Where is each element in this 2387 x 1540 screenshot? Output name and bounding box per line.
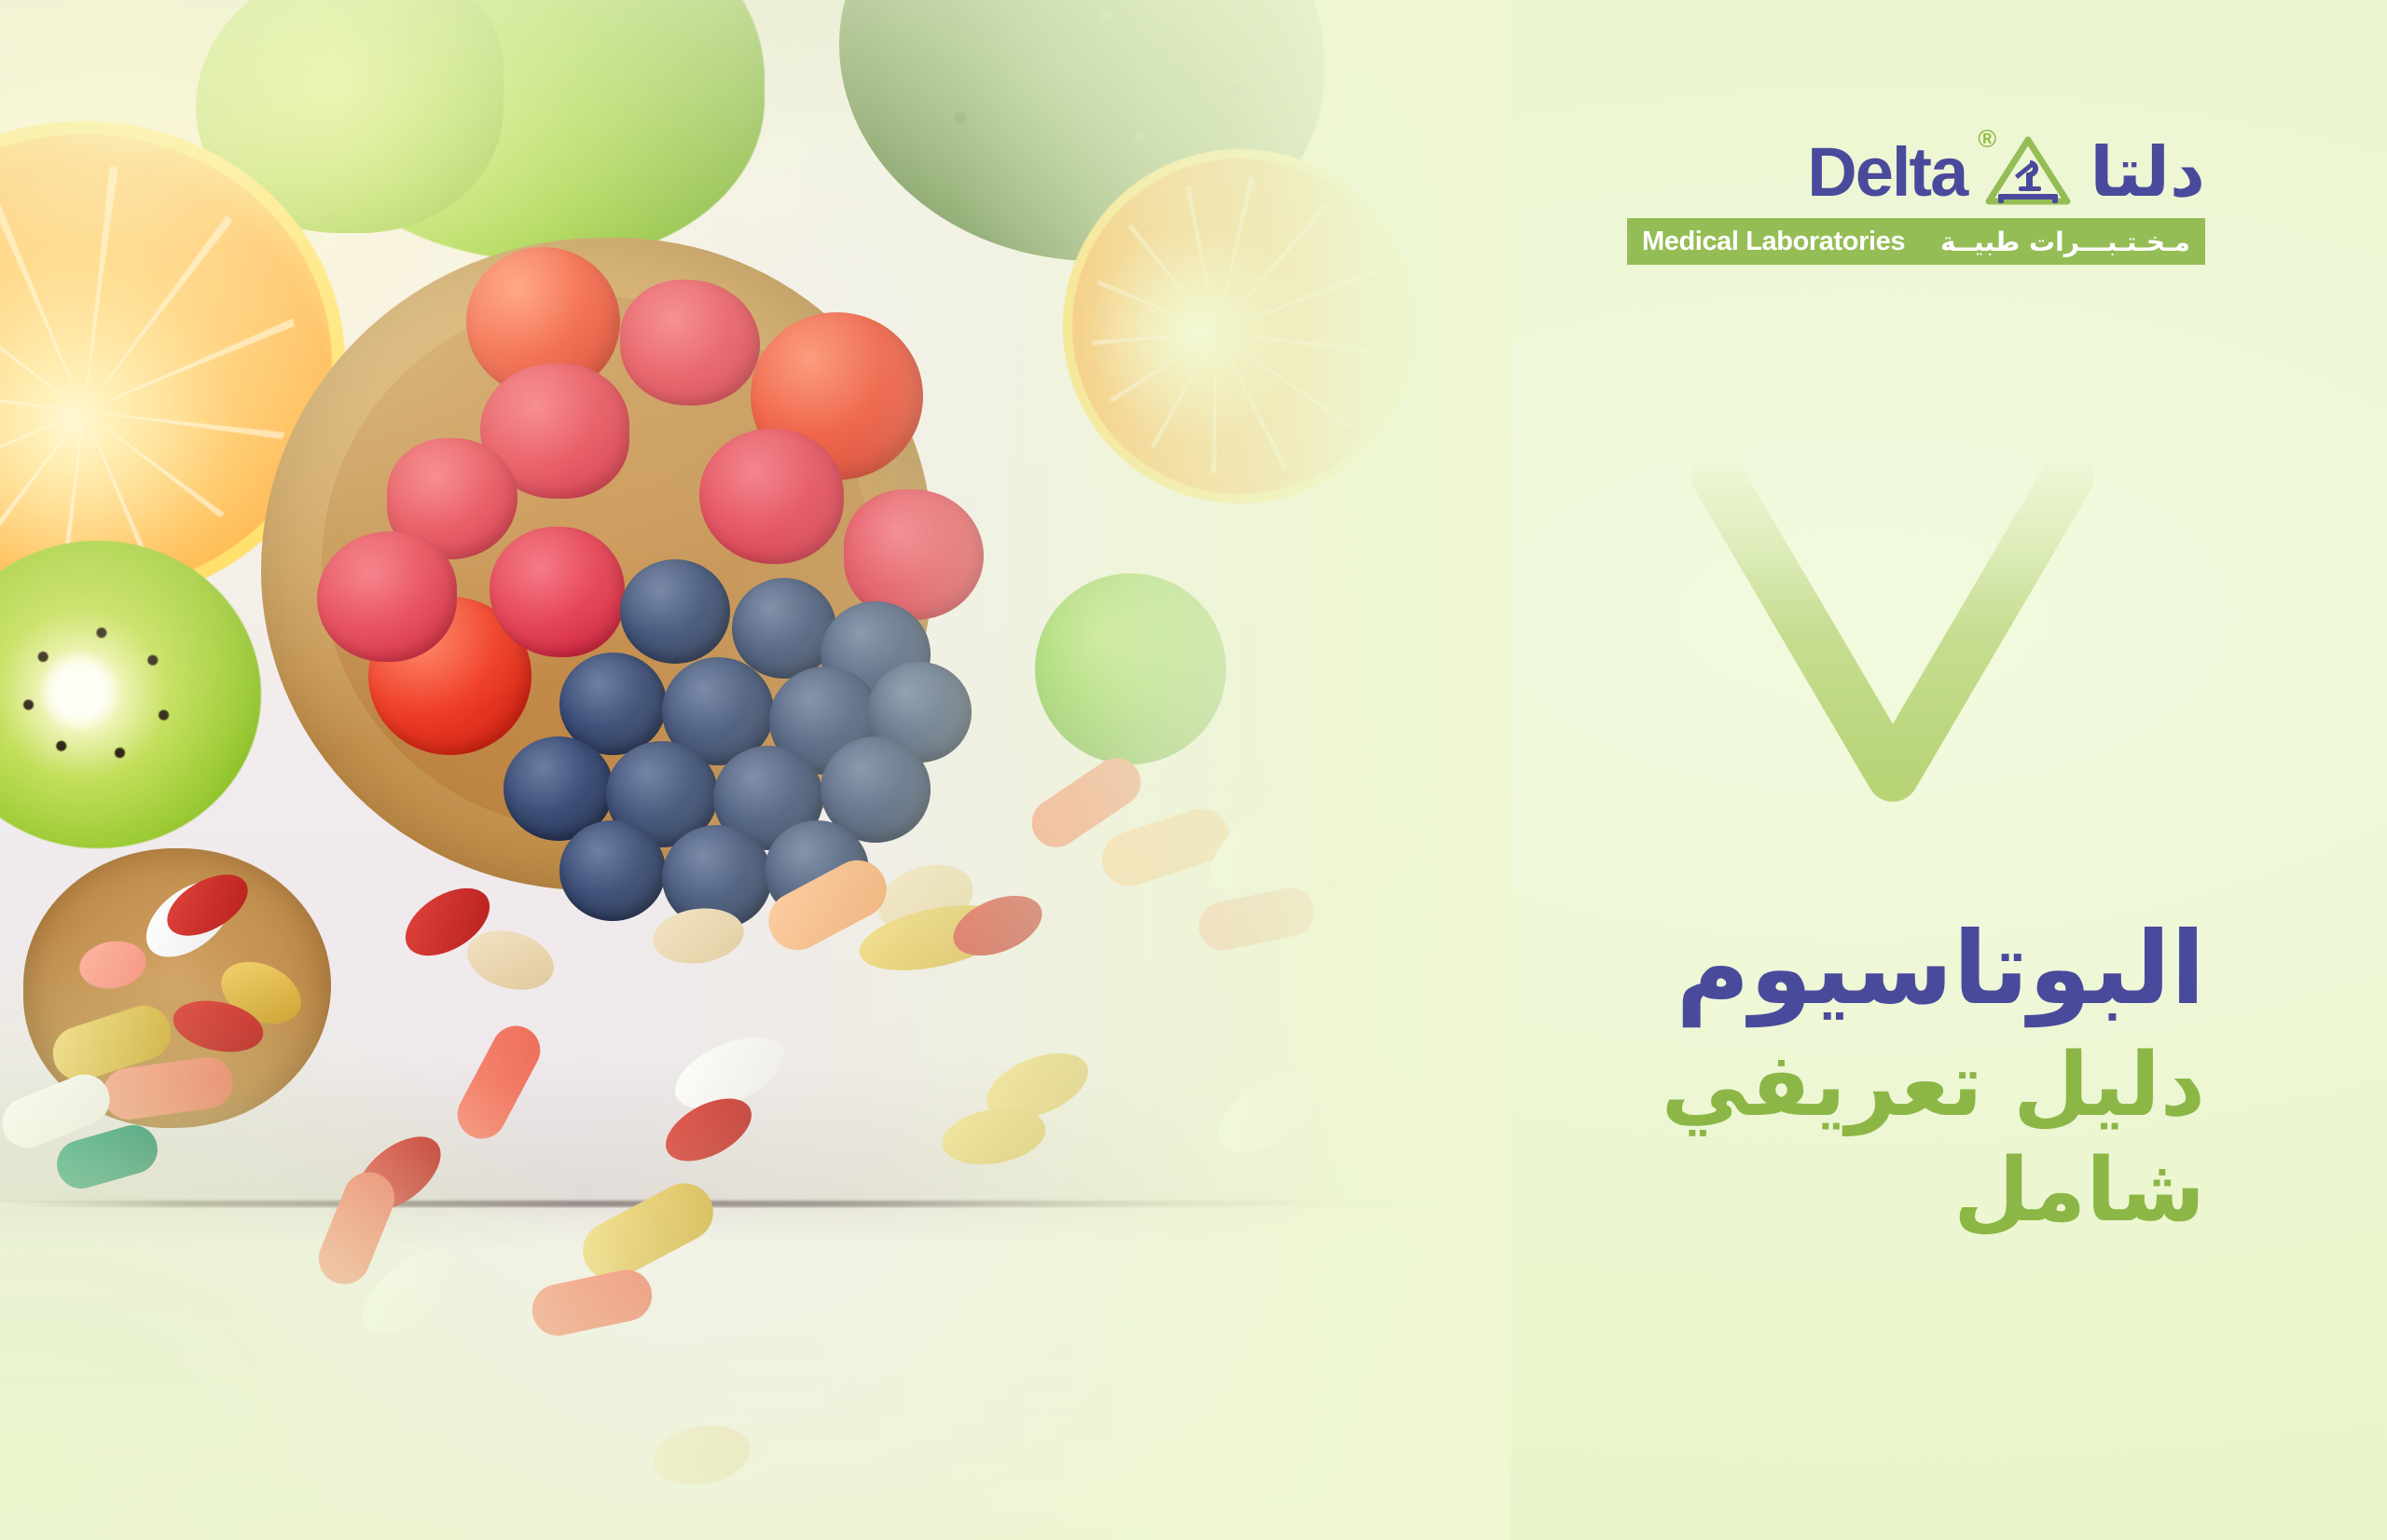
page-subtitle: دليل تعريفي شامل — [1403, 1034, 2205, 1244]
microscope-in-triangle-icon: ® — [1983, 134, 2073, 211]
table-plank-seam — [0, 1201, 1511, 1207]
lime-fruit — [1035, 573, 1226, 764]
logo-wordmark-ar: دلتا — [2090, 140, 2205, 205]
blueberry — [620, 559, 730, 664]
blueberry — [559, 820, 666, 921]
logo-wordmark-en: Delta — [1807, 142, 1966, 204]
food-photo-collage — [0, 0, 1511, 1540]
headline-block: البوتاسيوم دليل تعريفي شامل — [1403, 914, 2205, 1244]
chevron-down-accent-icon — [1692, 447, 2093, 802]
raspberry — [490, 527, 625, 657]
logo-tagline-ar: مـخـتـبـــرات طبيــة — [1940, 227, 2190, 257]
raspberry — [844, 489, 984, 620]
poster-canvas: Delta ® — [0, 0, 2387, 1540]
registered-trademark-icon: ® — [1978, 127, 1996, 152]
branding-panel: Delta ® — [1361, 0, 2387, 1540]
table-plank-lower — [0, 1208, 1511, 1540]
raspberry — [699, 429, 844, 564]
delta-logo[interactable]: Delta ® — [1627, 132, 2205, 265]
logo-tagline-bar: Medical Laboratories مـخـتـبـــرات طبيــ… — [1627, 218, 2205, 265]
raspberry — [317, 531, 457, 662]
page-title: البوتاسيوم — [1403, 914, 2205, 1026]
logo-tagline-en: Medical Laboratories — [1642, 227, 1905, 257]
raspberry — [620, 280, 760, 406]
